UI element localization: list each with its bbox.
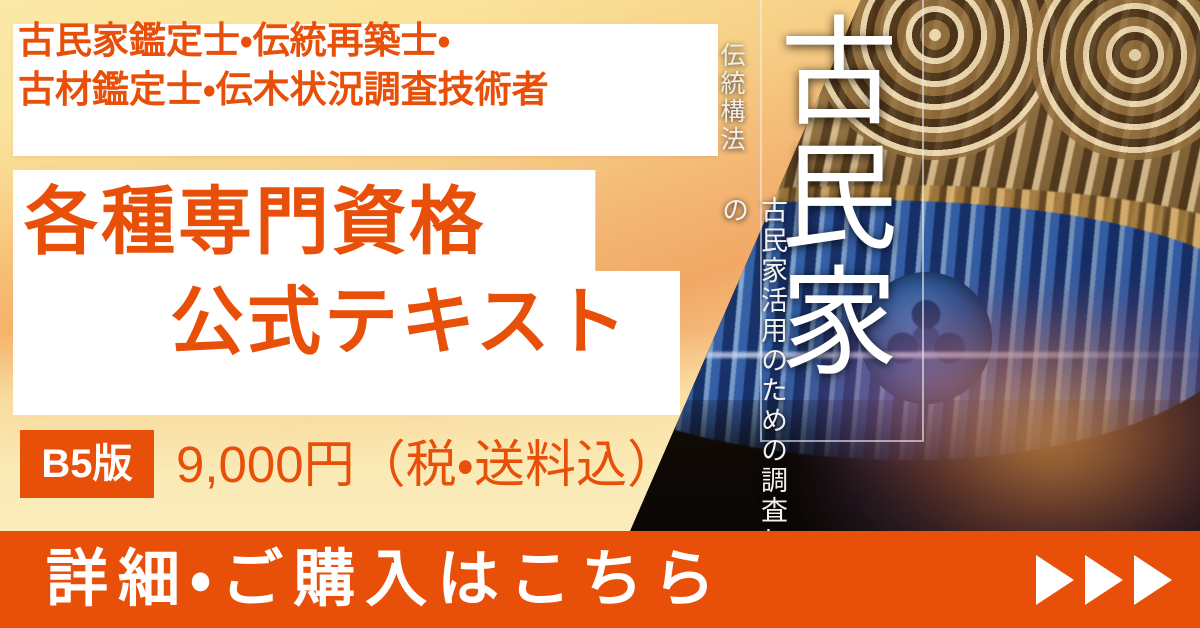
cta-label: 詳細・ご購入はこちら bbox=[46, 549, 725, 611]
certifications-text: 古民家鑑定士・伝統再築士・ 古材鑑定士・伝木状況調査技術者 bbox=[18, 17, 698, 115]
triangle-right-icon bbox=[1036, 555, 1074, 605]
triangle-right-icon bbox=[1134, 555, 1172, 605]
headline-line-2: 公式テキスト bbox=[170, 285, 630, 359]
headline-line-1: 各種専門資格 bbox=[24, 185, 486, 259]
size-badge-label: B5版 bbox=[41, 444, 132, 484]
cta-arrow-group bbox=[1036, 555, 1172, 605]
cta-bar[interactable]: 詳細・ご購入はこちら bbox=[0, 531, 1200, 628]
triangle-right-icon bbox=[1085, 555, 1123, 605]
book-cover-title: 古民家 bbox=[775, 12, 905, 387]
size-badge: B5版 bbox=[20, 430, 154, 498]
promo-banner: 古民家 伝統構法 古民家活用のための調査と再生の 古民家鑑定士・伝統再築士・ 古… bbox=[0, 0, 1200, 628]
price-text: 9,000円（税・送料込） bbox=[176, 434, 678, 495]
